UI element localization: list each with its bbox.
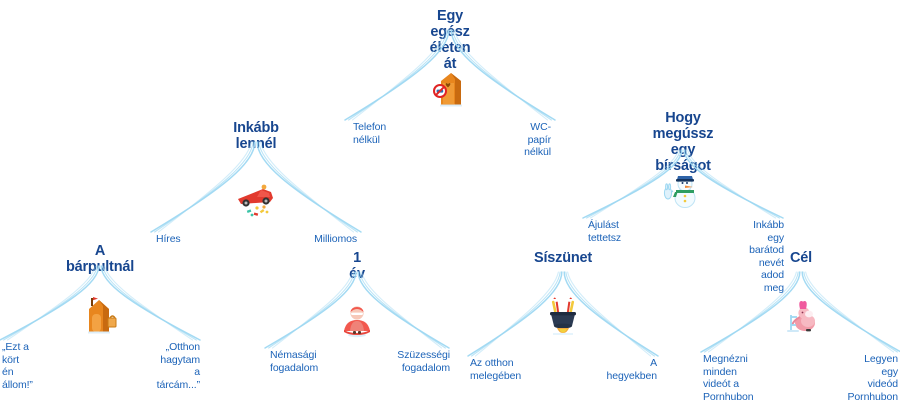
pink-bunny-icon	[778, 295, 824, 341]
leaf-label-left: Némasági fogadalom	[270, 349, 318, 374]
bar-building-icon	[77, 292, 123, 338]
outhouse-no-phone-icon	[427, 65, 473, 111]
red-sportscar-confetti-icon	[233, 177, 279, 223]
leaf-label-right: Inkább egy barátod nevét adod meg	[749, 219, 784, 294]
leaf-label-left: „Ezt a kört én állom!”	[2, 341, 33, 391]
node-title: Síszünet	[534, 250, 592, 266]
leaf-label-right: A hegyekben	[607, 357, 657, 382]
leaf-label-left: Ájulást tettetsz	[588, 219, 621, 244]
node-title: 1 év	[349, 250, 365, 282]
node-title: Inkább lennél	[233, 120, 279, 152]
leaf-label-right: Legyen egy videód Pornhubon	[848, 353, 898, 400]
leaf-label-right: WC-papír nélkül	[524, 121, 551, 159]
node-title: Cél	[790, 250, 812, 266]
leaf-label-left: Telefon nélkül	[353, 121, 386, 146]
leaf-label-left: Híres	[156, 233, 181, 246]
leaf-label-left: Megnézni minden videót a Pornhubon	[703, 353, 753, 400]
leaf-label-right: Szüzességi fogadalom	[397, 349, 450, 374]
infographic-canvas: Egy egész életen át Telefon nélkülWC-pap…	[0, 0, 900, 400]
node-title: A bárpultnál	[66, 243, 134, 275]
snowman-police-icon	[660, 165, 706, 211]
meditating-monk-icon	[334, 295, 380, 341]
cauldron-skis-icon	[540, 295, 586, 341]
node-title: Egy egész életen át	[430, 8, 471, 72]
leaf-label-right: „Otthon hagytam a tárcám...”	[157, 341, 200, 391]
leaf-label-right: Milliomos	[314, 233, 357, 246]
leaf-label-left: Az otthon melegében	[470, 357, 521, 382]
